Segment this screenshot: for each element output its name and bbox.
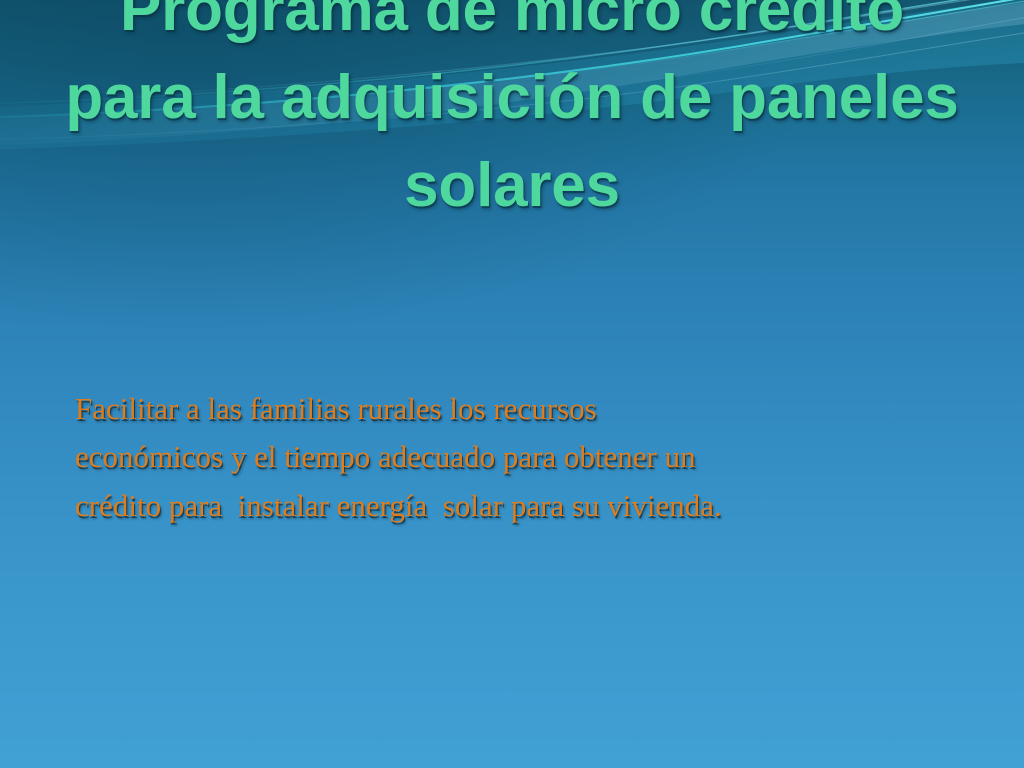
slide-body-text: Facilitar a las familias rurales los rec… — [75, 385, 975, 530]
body-line-2: económicos y el tiempo adecuado para obt… — [75, 433, 975, 481]
title-line-1: Programa de micro crédito — [8, 0, 1016, 54]
body-line-1: Facilitar a las familias rurales los rec… — [75, 385, 975, 433]
title-line-2: para la adquisición de paneles — [8, 54, 1016, 142]
slide-title: Programa de micro crédito para la adquis… — [0, 0, 1024, 230]
body-line-3: crédito para instalar energía solar para… — [75, 482, 975, 530]
title-line-3: solares — [8, 142, 1016, 230]
presentation-slide: Programa de micro crédito para la adquis… — [0, 0, 1024, 768]
